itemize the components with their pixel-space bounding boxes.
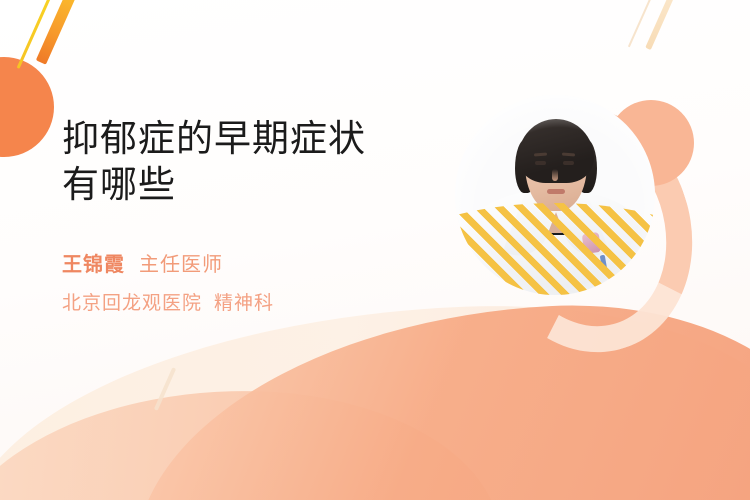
doctor-video-cover-card: 抑郁症的早期症状 有哪些 王锦霞 主任医师 北京回龙观医院 精神科: [0, 0, 750, 500]
portrait-circle-mask: [455, 95, 655, 295]
eye-left-shape: [535, 161, 546, 165]
doctor-department: 精神科: [214, 288, 274, 315]
doctor-name: 王锦霞: [62, 248, 125, 277]
faint-streak-decoration: [154, 367, 176, 411]
doctor-affiliation-line: 北京回龙观医院 精神科: [62, 288, 274, 315]
orange-circle-decoration: [0, 57, 54, 157]
yellow-stripe-overlay-decoration: [455, 203, 655, 295]
doctor-professional-title: 主任医师: [139, 248, 223, 277]
doctor-identity-line: 王锦霞 主任医师: [62, 248, 223, 277]
doctor-portrait: [455, 95, 655, 295]
salmon-wave-secondary-decoration: [0, 380, 504, 500]
eye-right-shape: [563, 161, 574, 165]
page-title: 抑郁症的早期症状 有哪些: [62, 116, 442, 208]
nose-shape: [552, 169, 558, 181]
mouth-shape: [547, 189, 565, 194]
doctor-hospital: 北京回龙观医院: [62, 288, 202, 315]
cream-streak-a-decoration: [645, 0, 681, 50]
